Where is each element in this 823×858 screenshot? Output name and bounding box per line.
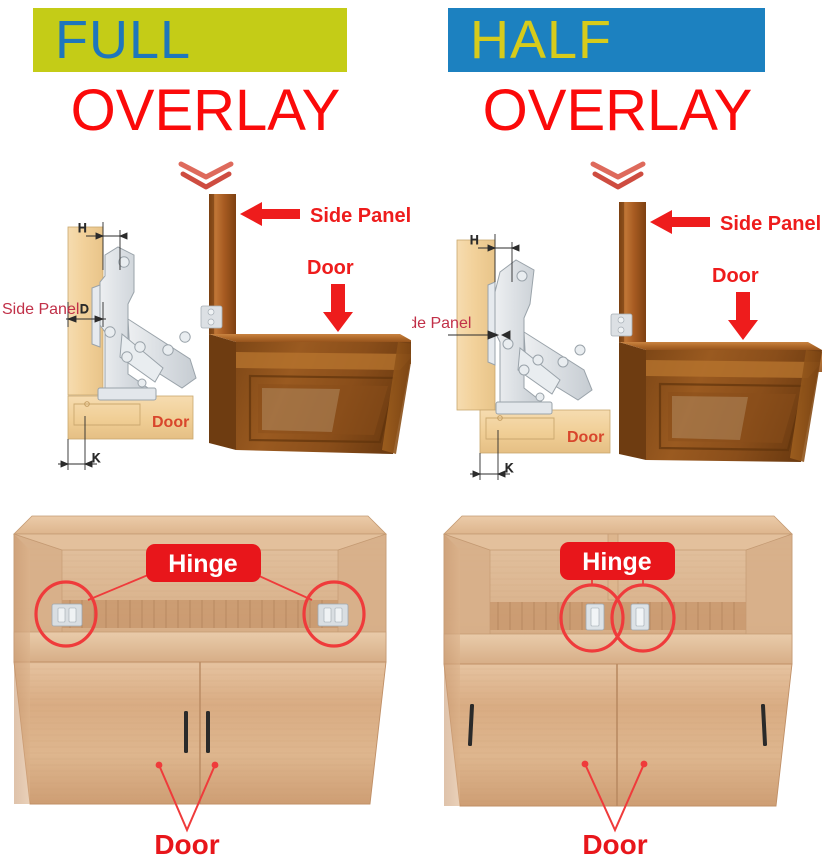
half-overlay-subtitle: OVERLAY — [412, 82, 823, 140]
hinge-hardware-inner-right-icon — [631, 604, 649, 630]
half-technical-diagram: H K Side Panel Door — [412, 192, 823, 482]
door-callout: Door — [307, 257, 354, 332]
dimension-label-k: K — [92, 451, 100, 465]
half-header-bar: HALF — [448, 8, 765, 72]
dimension-label-k: K — [505, 461, 513, 475]
door-callout-label: Door — [307, 257, 354, 279]
cabinet-corner-render — [201, 194, 411, 454]
full-header-label: FULL — [33, 13, 191, 67]
door-callout: Door — [712, 265, 759, 340]
left-arrow-icon — [240, 202, 300, 226]
double-chevron-down-icon — [171, 160, 241, 194]
half-chevron-wrapper — [412, 160, 823, 190]
door-bottom-label: Door — [154, 829, 219, 858]
cabinet-hinge-icon — [201, 306, 222, 328]
hinge-hardware-left-icon — [52, 604, 82, 626]
door-text-label: Door — [567, 429, 604, 446]
door-callout-label: Door — [712, 265, 759, 287]
side-panel-callout-label: Side Panel — [310, 205, 411, 227]
down-arrow-icon — [728, 292, 758, 340]
door-bottom-label: Door — [582, 829, 647, 858]
hinge-hardware-inner-left-icon — [586, 604, 604, 630]
hinge-mechanism-icon — [488, 260, 592, 414]
side-panel-text-label: Side Panel — [412, 315, 471, 332]
double-chevron-down-icon — [583, 160, 653, 194]
dimension-label-h: H — [470, 233, 479, 247]
full-overlay-subtitle: OVERLAY — [0, 82, 411, 140]
full-header-bar: FULL — [33, 8, 347, 72]
full-technical-diagram: H D K Side Panel Door — [0, 192, 411, 482]
door-text-label: Door — [152, 414, 189, 431]
hinge-badge: Hinge — [560, 542, 675, 580]
cabinet-hinge-icon — [611, 314, 632, 336]
full-chevron-wrapper — [0, 160, 411, 190]
left-arrow-icon — [650, 210, 710, 234]
hinge-badge: Hinge — [146, 544, 261, 582]
dimension-label-h: H — [78, 221, 87, 235]
side-panel-callout: Side Panel — [650, 210, 821, 235]
hinge-badge-label: Hinge — [582, 548, 652, 576]
half-header-label: HALF — [448, 13, 612, 67]
hinge-hardware-right-icon — [318, 604, 348, 626]
hinge-badge-label: Hinge — [168, 550, 238, 578]
side-panel-callout: Side Panel — [240, 202, 411, 227]
dimension-label-d: D — [80, 302, 89, 316]
half-overlay-panel: HALF OVERLAY — [412, 0, 823, 858]
hinge-mechanism-icon — [92, 247, 196, 400]
full-overlay-panel: FULL OVERLAY — [0, 0, 411, 858]
half-cabinet-illustration: Hinge Door — [412, 492, 823, 858]
down-arrow-icon — [323, 284, 353, 332]
full-cabinet-illustration: Hinge Door — [0, 492, 411, 858]
side-panel-callout-label: Side Panel — [720, 213, 821, 235]
side-panel-text-label: Side Panel — [2, 301, 79, 318]
cabinet-corner-render — [611, 202, 822, 462]
